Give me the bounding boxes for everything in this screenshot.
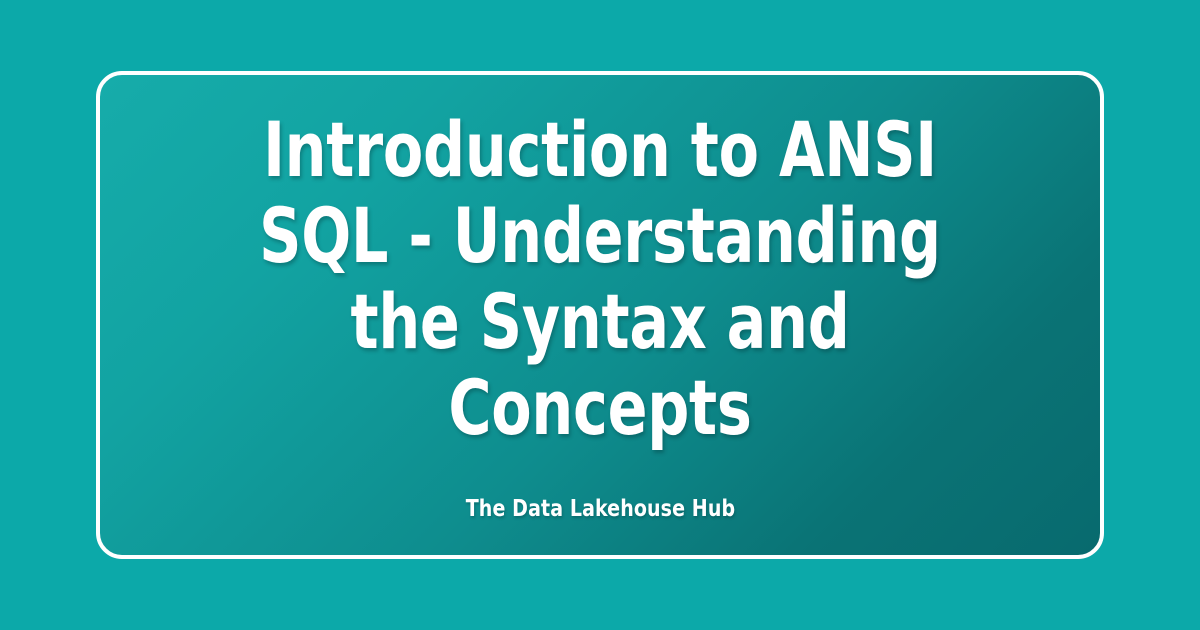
banner-root: Introduction to ANSI SQL - Understanding… [0,0,1200,630]
banner-card: Introduction to ANSI SQL - Understanding… [96,71,1104,559]
banner-title: Introduction to ANSI SQL - Understanding… [204,107,995,451]
banner-subtitle: The Data Lakehouse Hub [465,451,734,523]
banner-card-content: Introduction to ANSI SQL - Understanding… [100,107,1100,523]
